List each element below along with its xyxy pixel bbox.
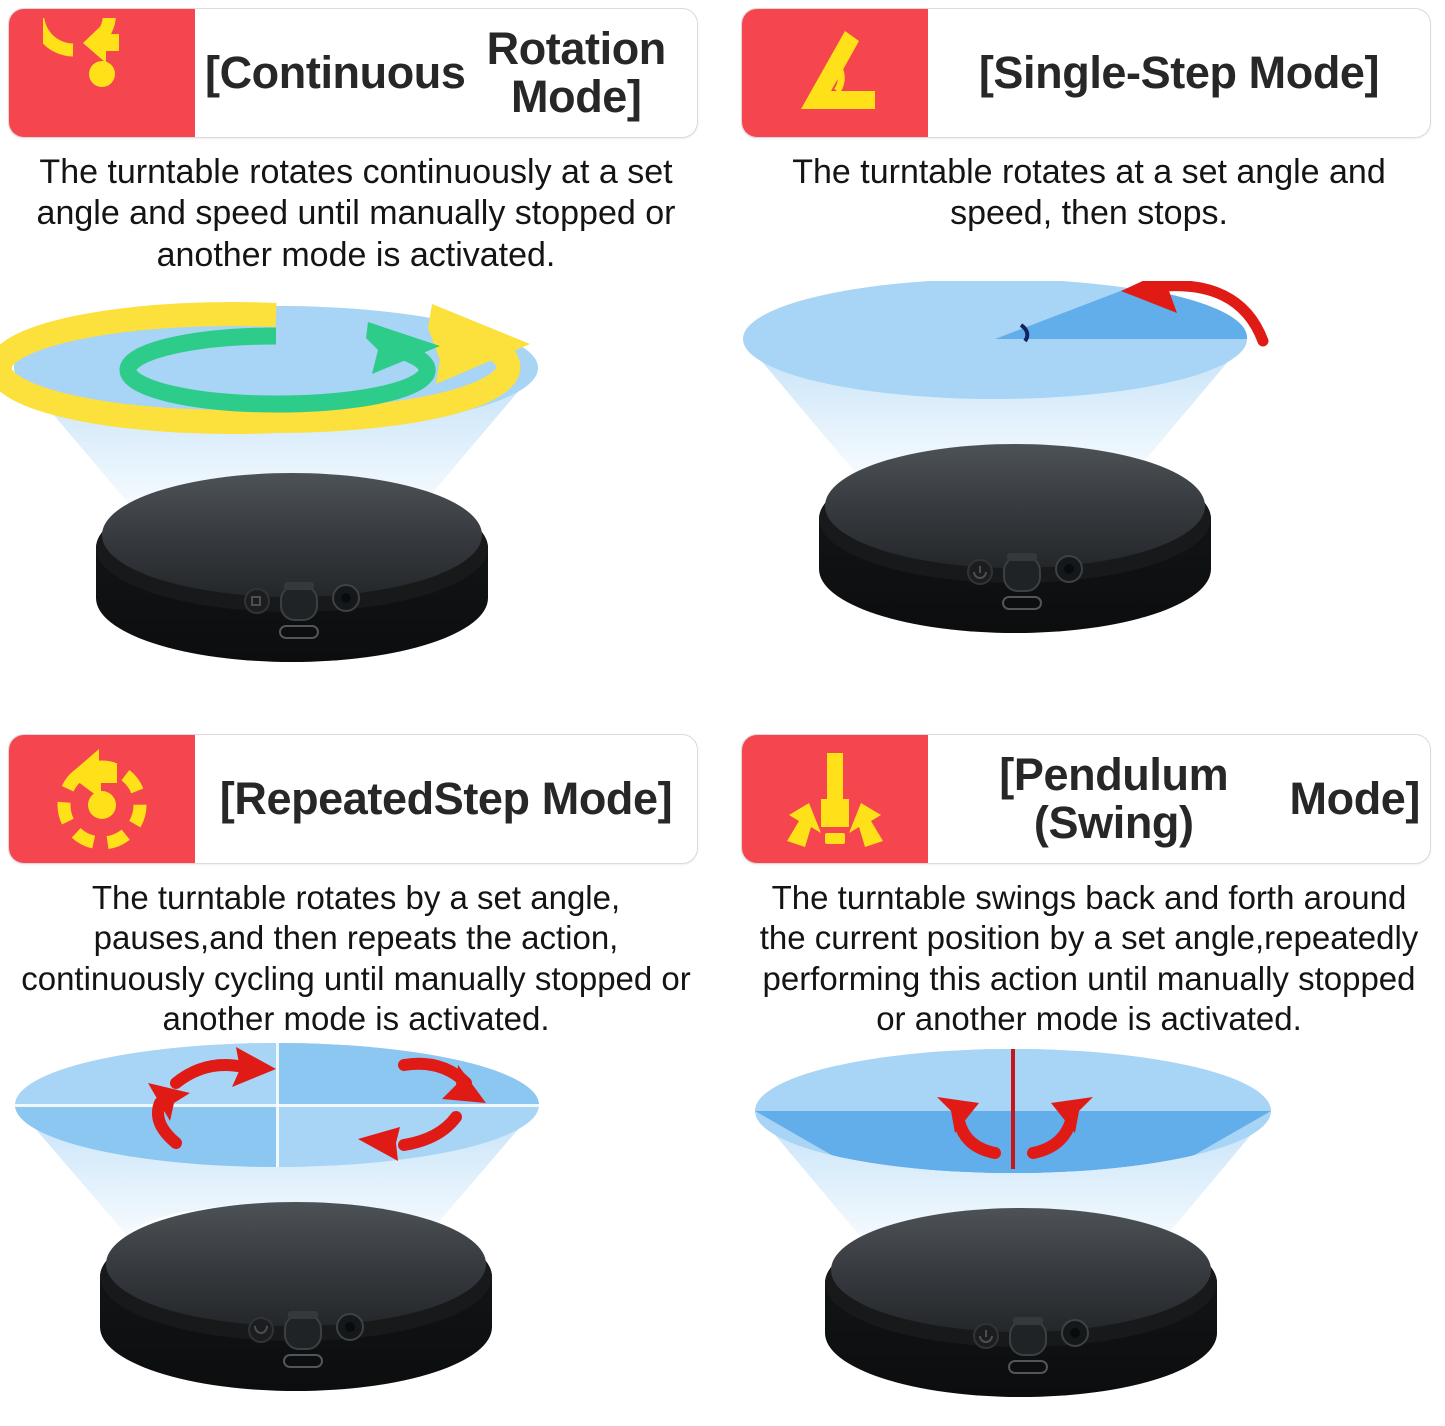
mode-header: [Pendulum (Swing)Mode] [741, 734, 1431, 864]
mode-title: [RepeatedStep Mode] [195, 735, 697, 863]
mode-description: The turntable swings back and forth arou… [749, 878, 1429, 1039]
panel-single-step: [Single-Step Mode] The turntable rotates… [733, 0, 1445, 700]
circular-arrow-icon [9, 9, 195, 137]
mode-header: [Single-Step Mode] [741, 8, 1431, 138]
mode-title: [Pendulum (Swing)Mode] [928, 735, 1430, 863]
mode-description: The turntable rotates continuously at a … [16, 152, 696, 276]
mode-description: The turntable rotates by a set angle, pa… [16, 878, 696, 1039]
mode-title: [ContinuousRotation Mode] [195, 9, 697, 137]
turntable-continuous-rotation-illustration [0, 298, 712, 698]
mode-header: [ContinuousRotation Mode] [8, 8, 698, 138]
turntable-device [100, 1202, 492, 1391]
turntable-device [819, 444, 1211, 633]
turntable-pendulum-swing-illustration [733, 1041, 1445, 1426]
mode-infographic: [ContinuousRotation Mode] The turntable … [0, 0, 1445, 1426]
turntable-device [96, 473, 488, 662]
panel-repeated-step: [RepeatedStep Mode] The turntable rotate… [0, 726, 712, 1426]
turntable-device [825, 1208, 1217, 1397]
panel-continuous-rotation: [ContinuousRotation Mode] The turntable … [0, 0, 712, 700]
mode-title: [Single-Step Mode] [928, 9, 1430, 137]
angle-icon [742, 9, 928, 137]
mode-header: [RepeatedStep Mode] [8, 734, 698, 864]
turntable-repeated-step-illustration [0, 1043, 712, 1426]
mode-description: The turntable rotates at a set angle and… [749, 152, 1429, 235]
turntable-single-step-illustration [733, 281, 1445, 681]
dashed-circular-arrow-icon [9, 735, 195, 863]
pendulum-icon [742, 735, 928, 863]
panel-pendulum-swing: [Pendulum (Swing)Mode] The turntable swi… [733, 726, 1445, 1426]
